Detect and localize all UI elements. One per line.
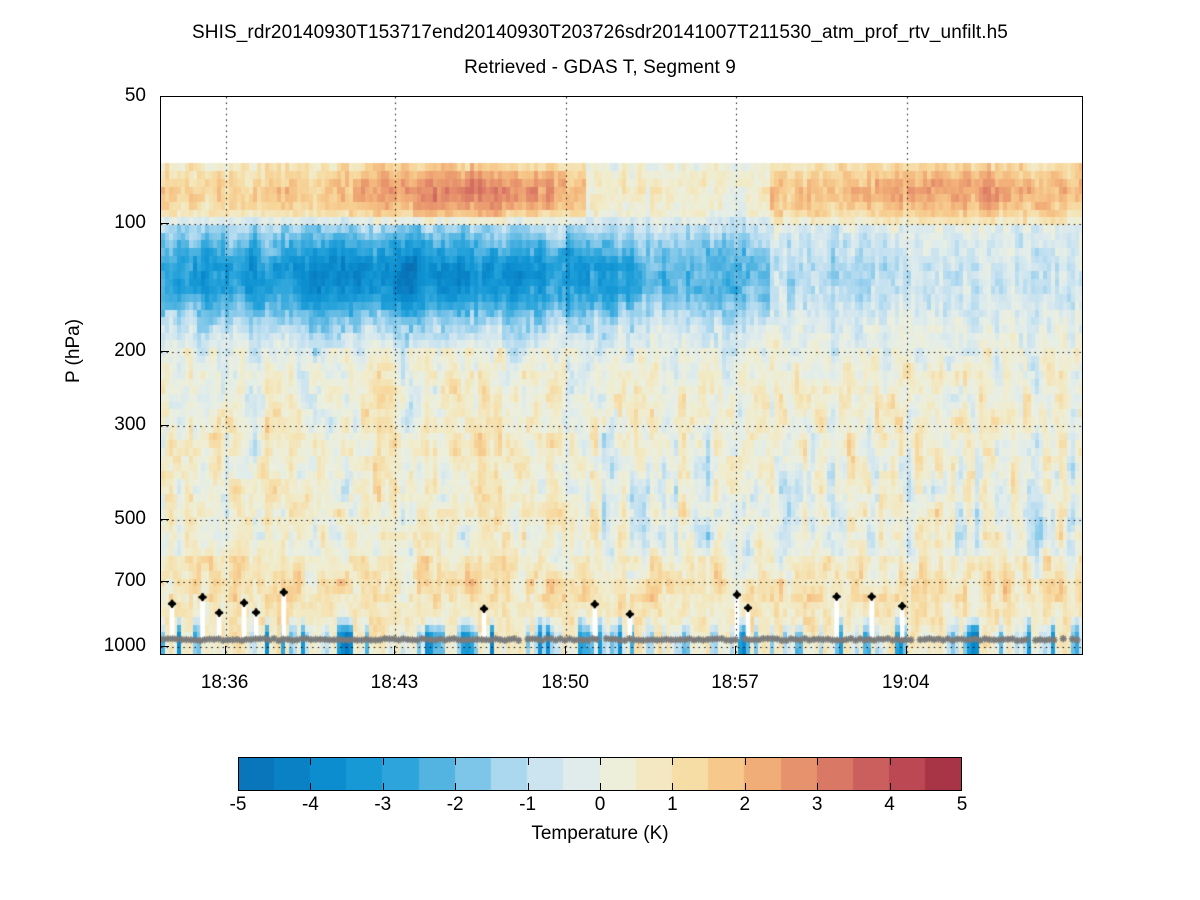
y-tick-label-500: 500: [86, 509, 146, 528]
colorbar-label--5: -5: [198, 795, 278, 814]
figure-title-line1: SHIS_rdr20140930T153717end20140930T20372…: [0, 22, 1200, 44]
colorbar-tick-mark: [672, 783, 673, 791]
y-tick-mark: [160, 581, 169, 582]
colorbar-tick-mark: [890, 757, 891, 765]
y-tick-label-700: 700: [86, 571, 146, 590]
colorbar-tick-mark: [383, 783, 384, 791]
colorbar-tick-mark: [455, 757, 456, 765]
colorbar-tick-mark: [310, 757, 311, 765]
colorbar-label-3: 3: [777, 795, 857, 814]
colorbar-label-0: 0: [560, 795, 640, 814]
y-tick-mark: [160, 646, 169, 647]
x-tick-mark: [735, 646, 736, 655]
colorbar-label-5: 5: [922, 795, 1002, 814]
y-axis-title: P (hPa): [63, 271, 85, 431]
colorbar-label--1: -1: [488, 795, 568, 814]
y-tick-mark: [160, 425, 169, 426]
figure-root: SHIS_rdr20140930T153717end20140930T20372…: [0, 0, 1200, 900]
colorbar-title: Temperature (K): [0, 823, 1200, 845]
x-tick-mark: [565, 646, 566, 655]
y-tick-label-300: 300: [86, 415, 146, 434]
y-tick-mark: [160, 519, 169, 520]
heatmap-plot-area: [160, 96, 1083, 655]
colorbar-label-2: 2: [705, 795, 785, 814]
colorbar-label--4: -4: [270, 795, 350, 814]
x-tick-label-19:04: 19:04: [856, 673, 956, 692]
colorbar-tick-mark: [600, 783, 601, 791]
y-tick-label-50: 50: [86, 86, 146, 105]
x-tick-mark: [906, 646, 907, 655]
colorbar-tick-mark: [672, 757, 673, 765]
x-tick-label-18:50: 18:50: [515, 673, 615, 692]
colorbar-tick-mark: [817, 783, 818, 791]
marker-overlay: [161, 97, 1083, 655]
y-tick-label-100: 100: [86, 213, 146, 232]
x-tick-mark: [394, 646, 395, 655]
colorbar-label-1: 1: [632, 795, 712, 814]
colorbar-tick-mark: [600, 757, 601, 765]
colorbar-tick-mark: [310, 783, 311, 791]
colorbar-label--3: -3: [343, 795, 423, 814]
x-tick-mark: [225, 646, 226, 655]
colorbar-label-4: 4: [850, 795, 930, 814]
colorbar-tick-mark: [528, 783, 529, 791]
colorbar-tick-mark: [817, 757, 818, 765]
y-tick-mark: [160, 223, 169, 224]
y-tick-mark: [160, 351, 169, 352]
colorbar-tick-mark: [745, 783, 746, 791]
x-tick-label-18:36: 18:36: [175, 673, 275, 692]
y-tick-label-200: 200: [86, 341, 146, 360]
y-tick-label-1000: 1000: [86, 636, 146, 655]
colorbar-tick-mark: [455, 783, 456, 791]
x-tick-label-18:57: 18:57: [685, 673, 785, 692]
colorbar-tick-mark: [383, 757, 384, 765]
colorbar-label--2: -2: [415, 795, 495, 814]
x-tick-label-18:43: 18:43: [344, 673, 444, 692]
colorbar-tick-mark: [528, 757, 529, 765]
figure-title-line2: Retrieved - GDAS T, Segment 9: [0, 57, 1200, 79]
colorbar-tick-mark: [745, 757, 746, 765]
colorbar-tick-mark: [890, 783, 891, 791]
